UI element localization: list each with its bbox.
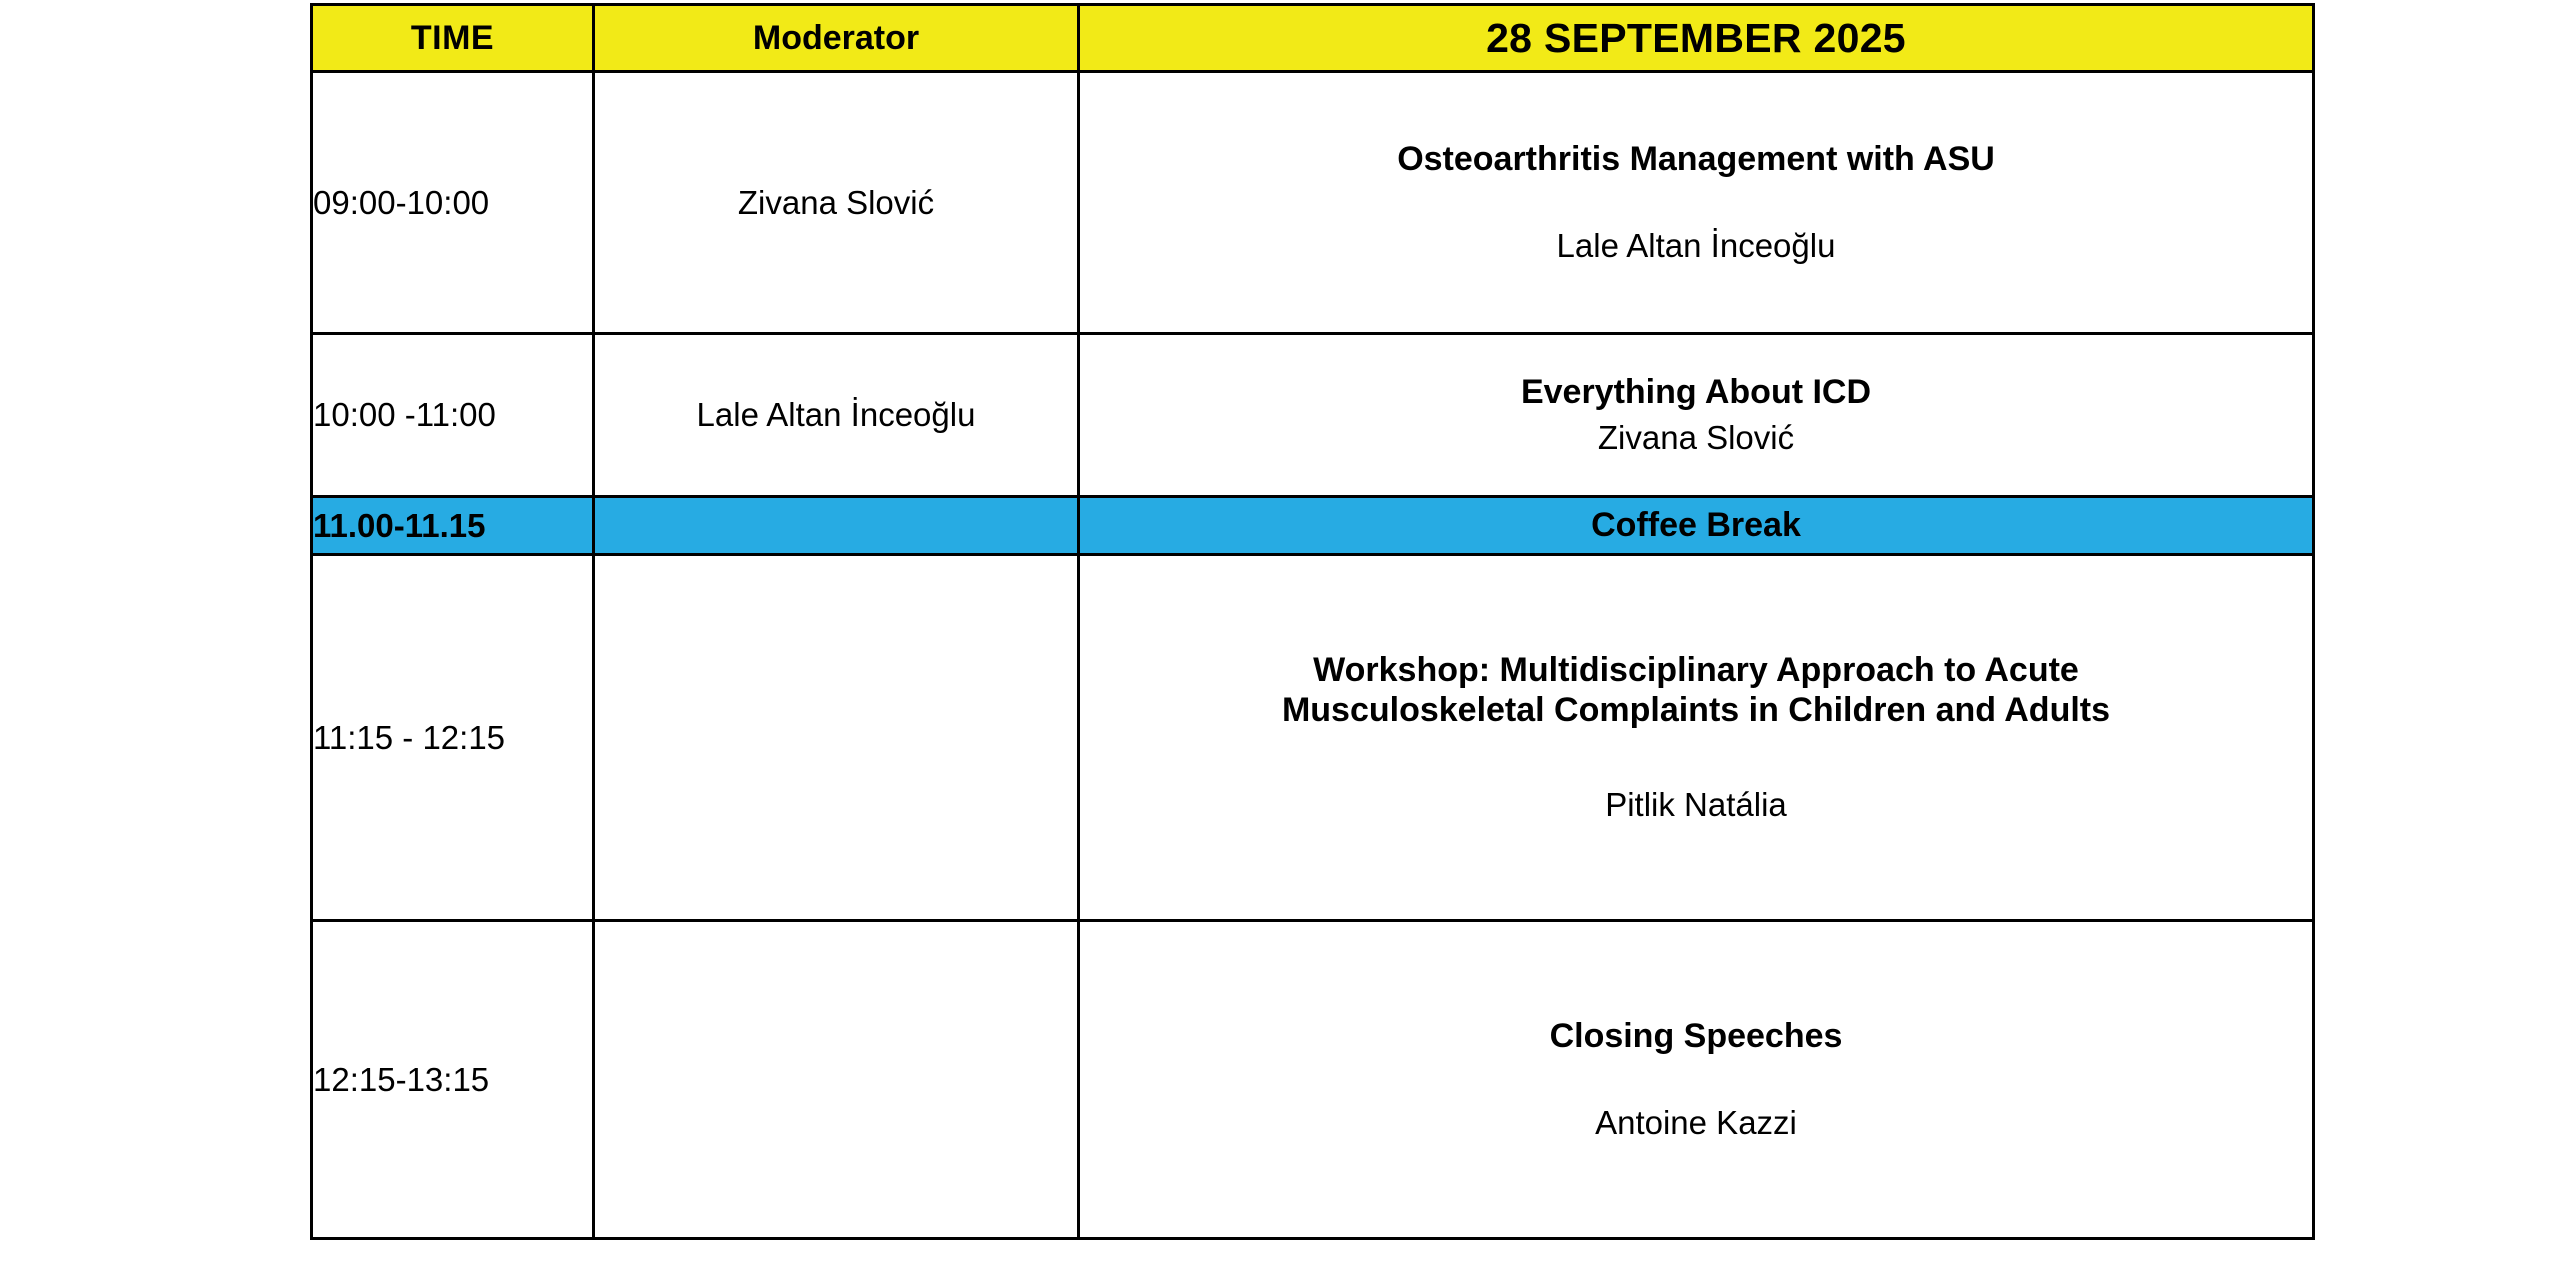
session-speaker: Zivana Slović <box>1598 419 1794 458</box>
row-moderator <box>594 555 1079 921</box>
column-header-date: 28 SEPTEMBER 2025 <box>1079 5 2314 72</box>
table-row: 10:00 -11:00 Lale Altan İnceoğlu Everyth… <box>312 334 2314 497</box>
row-session: Closing Speeches Antoine Kazzi <box>1079 921 2314 1239</box>
session-speaker: Antoine Kazzi <box>1595 1104 1797 1143</box>
session-title: Osteoarthritis Management with ASU <box>1397 139 1995 179</box>
row-moderator: Lale Altan İnceoğlu <box>594 334 1079 497</box>
schedule-page: TIME Moderator 28 SEPTEMBER 2025 09:00-1… <box>0 0 2560 1271</box>
session-content: Everything About ICD Zivana Slović <box>1080 372 2312 457</box>
session-title: Everything About ICD <box>1521 372 1871 412</box>
session-content: Closing Speeches Antoine Kazzi <box>1080 1016 2312 1143</box>
table-row: 09:00-10:00 Zivana Slović Osteoarthritis… <box>312 72 2314 334</box>
session-content: Workshop: Multidisciplinary Approach to … <box>1080 650 2312 825</box>
row-time: 12:15-13:15 <box>312 921 594 1239</box>
row-session: Everything About ICD Zivana Slović <box>1079 334 2314 497</box>
column-header-time: TIME <box>312 5 594 72</box>
row-time: 09:00-10:00 <box>312 72 594 334</box>
session-title-line-1: Workshop: Multidisciplinary Approach to … <box>1313 650 2079 690</box>
table-row-break: 11.00-11.15 Coffee Break <box>312 497 2314 555</box>
conference-schedule-table: TIME Moderator 28 SEPTEMBER 2025 09:00-1… <box>310 3 2315 1240</box>
column-header-moderator: Moderator <box>594 5 1079 72</box>
row-session: Osteoarthritis Management with ASU Lale … <box>1079 72 2314 334</box>
row-moderator <box>594 921 1079 1239</box>
session-title: Closing Speeches <box>1550 1016 1843 1056</box>
row-moderator <box>594 497 1079 555</box>
break-label: Coffee Break <box>1079 497 2314 555</box>
table-row: 11:15 - 12:15 Workshop: Multidisciplinar… <box>312 555 2314 921</box>
row-moderator: Zivana Slović <box>594 72 1079 334</box>
row-time: 11:15 - 12:15 <box>312 555 594 921</box>
session-content: Osteoarthritis Management with ASU Lale … <box>1080 139 2312 266</box>
row-session: Workshop: Multidisciplinary Approach to … <box>1079 555 2314 921</box>
session-speaker: Pitlik Natália <box>1605 786 1787 825</box>
table-header-row: TIME Moderator 28 SEPTEMBER 2025 <box>312 5 2314 72</box>
session-title-line-2: Musculoskeletal Complaints in Children a… <box>1282 690 2110 730</box>
row-time: 10:00 -11:00 <box>312 334 594 497</box>
session-speaker: Lale Altan İnceoğlu <box>1557 227 1836 266</box>
row-time: 11.00-11.15 <box>312 497 594 555</box>
table-row: 12:15-13:15 Closing Speeches Antoine Kaz… <box>312 921 2314 1239</box>
